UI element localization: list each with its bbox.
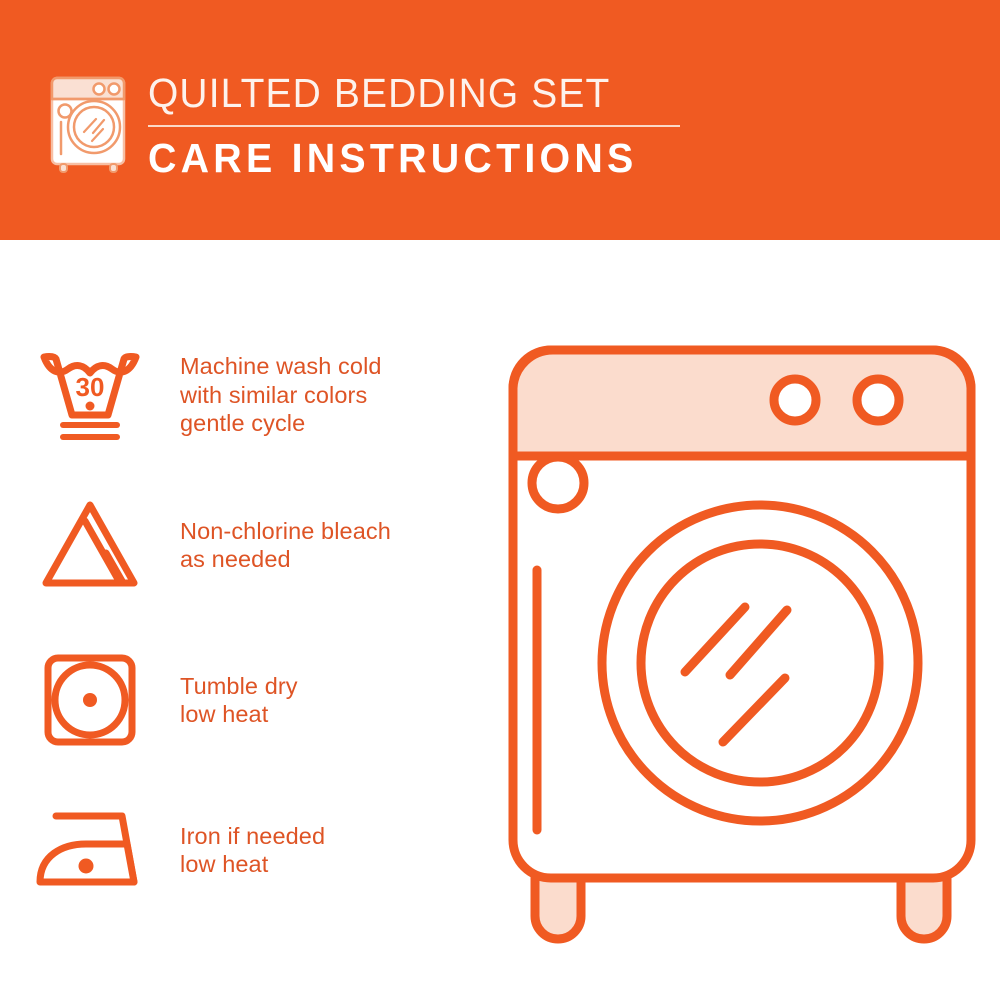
wash-temperature-value: 30 <box>76 372 105 402</box>
care-line: Tumble dry <box>180 672 298 701</box>
care-row-iron: Iron if needed low heat <box>0 775 500 925</box>
page-subtitle: CARE INSTRUCTIONS <box>148 133 686 183</box>
header-title-block: QUILTED BEDDING SET CARE INSTRUCTIONS <box>148 68 708 183</box>
knob-right <box>857 379 899 421</box>
care-line: Non-chlorine bleach <box>180 517 391 546</box>
care-instruction-list: 30 Machine wash cold with similar colors… <box>0 240 500 1000</box>
header-banner: QUILTED BEDDING SET CARE INSTRUCTIONS <box>0 0 1000 240</box>
care-line: Machine wash cold <box>180 352 382 381</box>
washing-machine-icon <box>44 72 140 176</box>
tumble-dry-low-heat-icon <box>0 648 180 752</box>
care-text-bleach: Non-chlorine bleach as needed <box>180 517 391 574</box>
front-load-washing-machine-illustration <box>495 330 995 950</box>
title-divider <box>148 125 680 127</box>
care-line: Iron if needed <box>180 822 325 851</box>
care-text-tumble-dry: Tumble dry low heat <box>180 672 298 729</box>
care-text-iron: Iron if needed low heat <box>180 822 325 879</box>
care-line: as needed <box>180 545 391 574</box>
care-line: low heat <box>180 700 298 729</box>
care-row-tumble-dry: Tumble dry low heat <box>0 625 500 775</box>
knob-left <box>774 379 816 421</box>
care-line: low heat <box>180 850 325 879</box>
care-row-bleach: Non-chlorine bleach as needed <box>0 470 500 620</box>
care-row-machine-wash: 30 Machine wash cold with similar colors… <box>0 320 500 470</box>
iron-low-heat-icon <box>0 802 180 898</box>
care-text-machine-wash: Machine wash cold with similar colors ge… <box>180 352 382 438</box>
page-title: QUILTED BEDDING SET <box>148 68 680 118</box>
non-chlorine-bleach-triangle-icon <box>0 497 180 593</box>
wash-tub-30-gentle-icon: 30 <box>0 343 180 447</box>
door-inner-ring <box>641 544 879 782</box>
care-line: with similar colors <box>180 381 382 410</box>
detergent-indicator-circle <box>532 457 584 509</box>
care-line: gentle cycle <box>180 409 382 438</box>
